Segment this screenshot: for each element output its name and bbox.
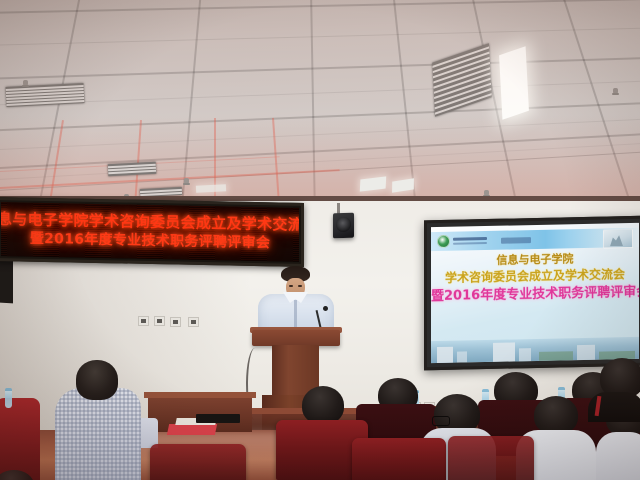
ceiling-air-vent: [432, 43, 492, 117]
wall-loudspeaker: [333, 213, 354, 239]
attendee-glasses-icon: [432, 416, 450, 426]
slide-title-block: 信息与电子学院 学术咨询委员会成立及学术交流会 暨2016年度专业技术职务评聘评…: [431, 251, 639, 305]
chair[interactable]: [448, 436, 534, 480]
wall-socket[interactable]: [138, 316, 149, 326]
wall-socket[interactable]: [188, 317, 199, 327]
wall-socket[interactable]: [154, 316, 165, 326]
red-folder[interactable]: [167, 424, 217, 435]
slide-footer-photo: [431, 337, 639, 363]
microphone-icon: [323, 306, 328, 311]
attendee-shoulders: [596, 432, 640, 480]
water-bottle[interactable]: [5, 388, 12, 408]
university-name-block: [453, 237, 487, 245]
university-logo-icon: [437, 235, 450, 248]
slide-header-tag: [501, 237, 531, 244]
attendee-head: [76, 360, 118, 400]
fire-sprinkler: [184, 178, 189, 185]
desk-top: [144, 392, 256, 398]
suspended-ceiling: [0, 0, 640, 205]
desk-equipment: [196, 414, 240, 423]
attendee-head: [534, 396, 578, 434]
attendee-head: [302, 386, 344, 424]
projection-screen: 信息与电子学院 学术咨询委员会成立及学术交流会 暨2016年度专业技术职务评聘评…: [424, 216, 640, 371]
ceiling-light-fixture: [499, 46, 529, 120]
chair[interactable]: [352, 438, 446, 480]
led-banner: 信息与电子学院学术咨询委员会成立及学术交流会 暨2016年度专业技术职务评聘评审…: [0, 197, 304, 267]
slide-line-3: 暨2016年度专业技术职务评聘评审会: [431, 285, 639, 306]
fire-sprinkler: [23, 80, 28, 87]
podium-top: [252, 330, 340, 346]
presentation-slide: 信息与电子学院 学术咨询委员会成立及学术交流会 暨2016年度专业技术职务评聘评…: [431, 223, 639, 363]
led-banner-line-2: 暨2016年度专业技术职务评聘评审会: [30, 232, 270, 251]
ceiling-air-vent: [6, 83, 85, 107]
slide-header-band: [431, 228, 639, 251]
wall-socket[interactable]: [170, 317, 181, 327]
chair[interactable]: [0, 398, 40, 480]
slide-header-photo: [603, 229, 633, 249]
ceiling-air-vent: [108, 162, 157, 176]
fire-sprinkler: [613, 88, 618, 95]
conference-room-photo: 信息与电子学院学术咨询委员会成立及学术交流会 暨2016年度专业技术职务评聘评审…: [0, 0, 640, 480]
slide-line-2: 学术咨询委员会成立及学术交流会: [431, 267, 639, 286]
attendee-torso: [55, 388, 141, 480]
slide-line-1: 信息与电子学院: [431, 251, 639, 269]
chair[interactable]: [150, 444, 246, 480]
